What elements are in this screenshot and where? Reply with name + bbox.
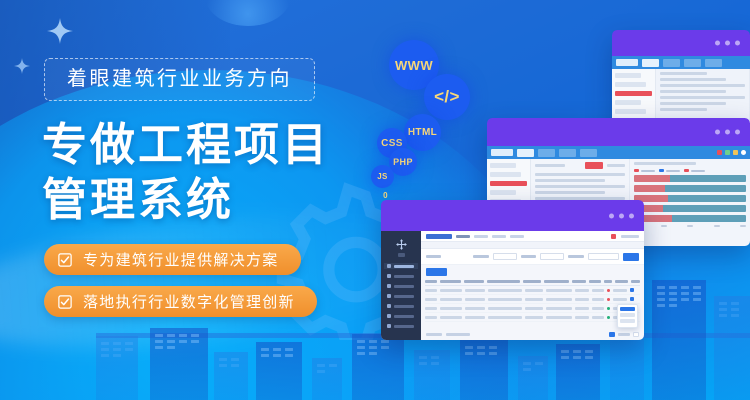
sidebar-item[interactable] bbox=[384, 293, 418, 299]
tab-strip[interactable] bbox=[421, 242, 644, 249]
menu-icon bbox=[387, 274, 391, 278]
breadcrumb-item[interactable] bbox=[456, 235, 470, 238]
sidebar-item[interactable] bbox=[490, 190, 516, 195]
sidebar-item[interactable] bbox=[615, 109, 646, 114]
filter-label bbox=[426, 255, 441, 258]
filter-label bbox=[568, 255, 583, 258]
sidebar-item[interactable] bbox=[384, 313, 418, 319]
chart-bar bbox=[634, 215, 746, 222]
feature-pill-2-label: 落地执行行业数字化管理创新 bbox=[83, 291, 295, 312]
legend-item bbox=[684, 169, 705, 172]
tab-active[interactable] bbox=[642, 59, 659, 67]
sidebar-item[interactable] bbox=[615, 73, 641, 78]
sidebar-item-selected[interactable] bbox=[384, 263, 418, 269]
app-header-icons[interactable] bbox=[717, 150, 746, 155]
user-menu[interactable] bbox=[621, 235, 639, 238]
breadcrumb bbox=[421, 231, 644, 242]
tab-item[interactable] bbox=[559, 149, 576, 157]
dashboard-window-front[interactable] bbox=[381, 200, 644, 340]
menu-icon bbox=[387, 324, 391, 328]
menu-item[interactable] bbox=[620, 307, 635, 311]
search-button[interactable] bbox=[623, 253, 639, 261]
window-titlebar[interactable] bbox=[612, 30, 750, 56]
pagination-summary bbox=[446, 333, 470, 336]
checkbox-check-icon bbox=[58, 295, 72, 309]
sidebar-dark[interactable] bbox=[381, 231, 421, 340]
pagination[interactable] bbox=[421, 329, 644, 340]
edit-icon[interactable] bbox=[630, 297, 634, 301]
tab-item[interactable] bbox=[538, 149, 555, 157]
app-header bbox=[612, 56, 750, 69]
alert-icon[interactable] bbox=[717, 150, 722, 155]
sidebar-item[interactable] bbox=[615, 82, 646, 87]
chart-axis bbox=[634, 225, 746, 228]
menu-item[interactable] bbox=[620, 313, 635, 317]
window-titlebar[interactable] bbox=[487, 118, 750, 146]
window-main bbox=[421, 231, 644, 340]
filter-select[interactable] bbox=[493, 253, 517, 260]
tab-item[interactable] bbox=[705, 59, 722, 67]
status-badge bbox=[607, 307, 610, 310]
tech-bubble-html: HTML bbox=[404, 114, 441, 151]
sidebar-subtitle bbox=[398, 253, 405, 257]
legend-item bbox=[659, 169, 680, 172]
window-dot[interactable] bbox=[619, 213, 624, 218]
add-button[interactable] bbox=[426, 268, 447, 276]
table-row[interactable] bbox=[425, 304, 640, 313]
sidebar-item-selected[interactable] bbox=[490, 181, 527, 186]
filter-bar[interactable] bbox=[421, 249, 644, 265]
sidebar-item-selected[interactable] bbox=[615, 91, 652, 96]
sidebar-item[interactable] bbox=[490, 172, 521, 177]
window-dot[interactable] bbox=[725, 130, 730, 135]
sidebar-item[interactable] bbox=[384, 273, 418, 279]
status-badge bbox=[607, 316, 610, 319]
app-header bbox=[487, 146, 750, 159]
checkbox-check-icon bbox=[58, 253, 72, 267]
avatar[interactable] bbox=[741, 150, 746, 155]
chart-bar bbox=[634, 205, 746, 212]
pagination-summary bbox=[426, 333, 442, 336]
breadcrumb-item[interactable] bbox=[474, 235, 488, 238]
window-controls[interactable] bbox=[715, 41, 740, 46]
edit-icon[interactable] bbox=[630, 288, 634, 292]
page-number-button[interactable] bbox=[609, 332, 615, 337]
bell-icon[interactable] bbox=[733, 150, 738, 155]
header-actions[interactable] bbox=[611, 234, 639, 239]
filter-label bbox=[473, 255, 488, 258]
status-badge bbox=[607, 298, 610, 301]
feature-pill-1-label: 专为建筑行业提供解决方案 bbox=[83, 249, 279, 270]
status-badge bbox=[607, 289, 610, 292]
sparkle-icon bbox=[14, 58, 30, 74]
page-title: 专做工程项目 管理系统 bbox=[42, 118, 330, 228]
filter-label bbox=[521, 255, 536, 258]
sidebar-item[interactable] bbox=[490, 163, 516, 168]
sparkle-icon bbox=[47, 18, 73, 44]
window-dot[interactable] bbox=[715, 130, 720, 135]
chart-panel bbox=[630, 159, 750, 246]
tab-item[interactable] bbox=[580, 149, 597, 157]
filter-select[interactable] bbox=[540, 253, 564, 260]
window-controls[interactable] bbox=[715, 130, 740, 135]
app-logo bbox=[491, 149, 513, 156]
primary-action-button[interactable] bbox=[585, 162, 603, 169]
table-row[interactable] bbox=[425, 313, 640, 322]
window-dot[interactable] bbox=[609, 213, 614, 218]
legend-item bbox=[634, 169, 655, 172]
sidebar-item[interactable] bbox=[384, 283, 418, 289]
window-titlebar[interactable] bbox=[381, 200, 644, 231]
data-table bbox=[421, 278, 644, 329]
toolbar[interactable] bbox=[421, 265, 644, 278]
table-header bbox=[425, 278, 640, 286]
window-controls[interactable] bbox=[609, 213, 634, 218]
feature-pill-1[interactable]: 专为建筑行业提供解决方案 bbox=[44, 244, 301, 275]
chart-bar bbox=[634, 185, 746, 192]
promo-banner: 着眼建筑行业业务方向 专做工程项目 管理系统 专为建筑行业提供解决方案 落地执行… bbox=[0, 0, 750, 400]
page-title bbox=[426, 234, 452, 239]
window-dot[interactable] bbox=[715, 41, 720, 46]
sidebar-item[interactable] bbox=[384, 323, 418, 329]
menu-icon bbox=[387, 294, 391, 298]
tech-bubble-code: </> bbox=[424, 74, 470, 120]
table-row[interactable] bbox=[425, 295, 640, 304]
menu-icon bbox=[387, 264, 391, 268]
tab-item[interactable] bbox=[684, 59, 701, 67]
table-row[interactable] bbox=[425, 286, 640, 295]
tab-item[interactable] bbox=[663, 59, 680, 67]
window-body bbox=[381, 231, 644, 340]
chart-legend bbox=[634, 169, 746, 172]
menu-icon bbox=[387, 284, 391, 288]
notification-badge[interactable] bbox=[611, 234, 616, 239]
sidebar-item[interactable] bbox=[615, 100, 641, 105]
search-input[interactable] bbox=[588, 253, 619, 260]
app-logo-icon bbox=[395, 238, 408, 251]
kicker-text: 着眼建筑行业业务方向 bbox=[44, 58, 315, 101]
breadcrumb-item[interactable] bbox=[510, 235, 524, 238]
tech-bubble-js: JS bbox=[371, 165, 394, 188]
sidebar-item[interactable] bbox=[384, 303, 418, 309]
menu-item[interactable] bbox=[620, 319, 635, 323]
window-dot[interactable] bbox=[725, 41, 730, 46]
chart-bar bbox=[634, 175, 746, 182]
feature-pill-2[interactable]: 落地执行行业数字化管理创新 bbox=[44, 286, 317, 317]
window-dot[interactable] bbox=[735, 41, 740, 46]
breadcrumb-item[interactable] bbox=[492, 235, 506, 238]
menu-icon bbox=[387, 304, 391, 308]
chart-bar bbox=[634, 195, 746, 202]
window-dot[interactable] bbox=[735, 130, 740, 135]
window-dot[interactable] bbox=[629, 213, 634, 218]
menu-icon bbox=[387, 314, 391, 318]
app-logo bbox=[616, 59, 638, 66]
page-size-label bbox=[618, 333, 630, 336]
page-next-button[interactable] bbox=[633, 332, 639, 337]
status-icon[interactable] bbox=[725, 150, 730, 155]
tab-active[interactable] bbox=[517, 149, 534, 157]
context-menu[interactable] bbox=[617, 304, 638, 328]
